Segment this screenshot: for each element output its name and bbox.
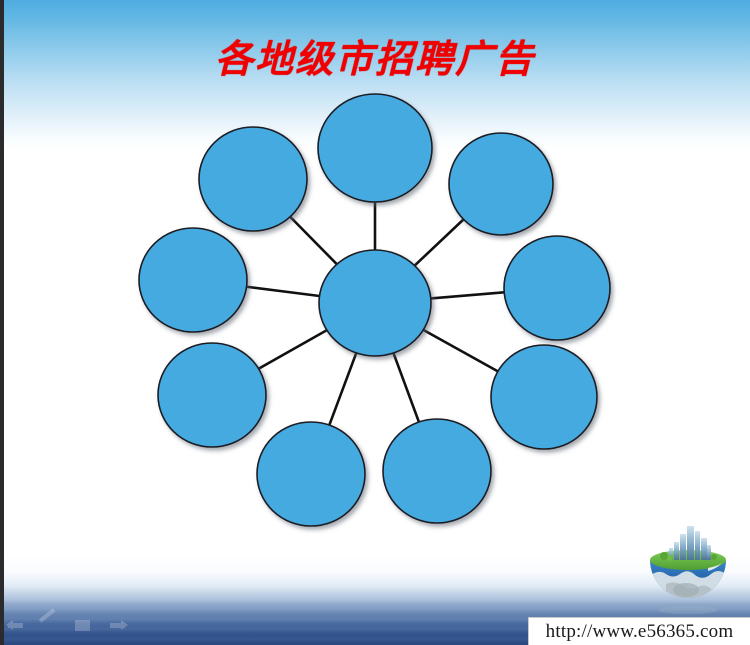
diagram-center-node-shape[interactable] — [319, 250, 431, 356]
diagram-node-5[interactable] — [383, 419, 491, 523]
spoke-line-2 — [415, 219, 464, 265]
diagram-node-4-shape[interactable] — [491, 345, 597, 449]
watermark-box: http://www.e56365.com — [528, 617, 750, 645]
spoke-line-5 — [393, 353, 418, 422]
diagram-center-node[interactable] — [319, 250, 431, 356]
globe-svg — [636, 518, 740, 618]
diagram-node-2-shape[interactable] — [449, 133, 553, 235]
diagram-node-8-shape[interactable] — [139, 228, 247, 332]
spoke-line-3 — [431, 292, 504, 298]
center-node — [319, 250, 431, 356]
diagram-node-1[interactable] — [318, 94, 432, 202]
globe-reflection — [658, 606, 718, 614]
diagram-node-4[interactable] — [491, 345, 597, 449]
spoke-line-7 — [259, 330, 327, 369]
spoke-line-4 — [423, 330, 498, 372]
watermark-url: http://www.e56365.com — [546, 621, 734, 643]
diagram-node-9-shape[interactable] — [199, 127, 307, 231]
diagram-node-5-shape[interactable] — [383, 419, 491, 523]
tree-icon — [711, 554, 717, 560]
spoke-line-9 — [290, 217, 337, 264]
spoke-line-8 — [247, 287, 320, 296]
globe-continents — [650, 571, 726, 602]
diagram-node-9[interactable] — [199, 127, 307, 231]
tree-icon — [667, 555, 673, 561]
slide-canvas: 各地级市招聘广告 — [0, 0, 750, 645]
diagram-node-6[interactable] — [257, 422, 365, 526]
city-skyline — [669, 526, 711, 560]
diagram-node-7-shape[interactable] — [158, 343, 266, 447]
diagram-node-2[interactable] — [449, 133, 553, 235]
diagram-node-3-shape[interactable] — [504, 236, 610, 340]
diagram-node-7[interactable] — [158, 343, 266, 447]
diagram-node-1-shape[interactable] — [318, 94, 432, 202]
diagram-node-8[interactable] — [139, 228, 247, 332]
tree-icon — [660, 552, 668, 560]
spoke-line-6 — [329, 353, 356, 425]
diagram-node-6-shape[interactable] — [257, 422, 365, 526]
diagram-node-3[interactable] — [504, 236, 610, 340]
globe-graphic — [636, 518, 740, 618]
